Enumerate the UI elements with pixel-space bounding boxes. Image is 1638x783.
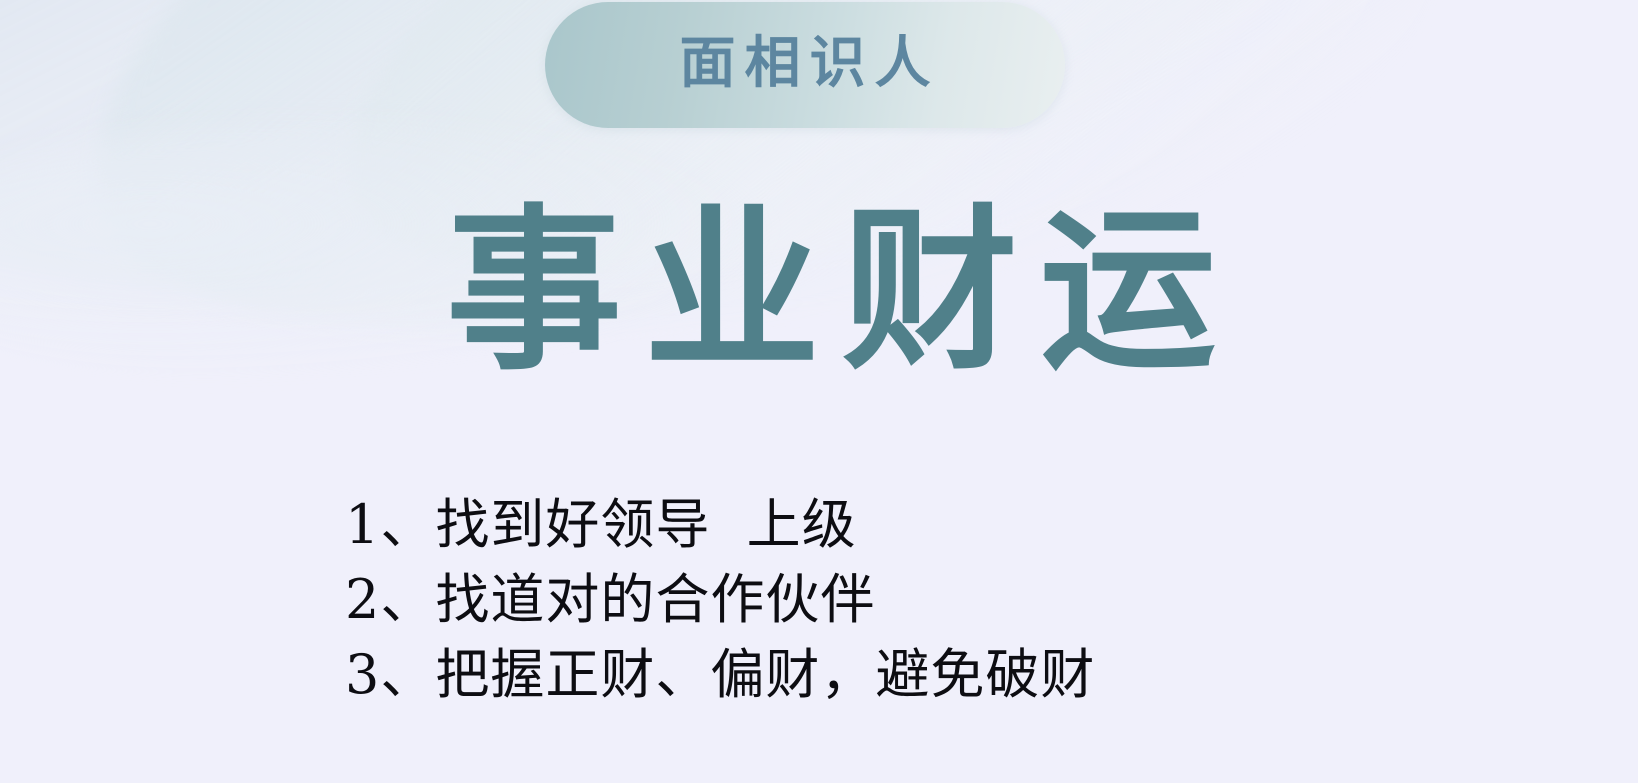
- topic-badge-pill: 面相识人: [545, 2, 1065, 128]
- slide-root: 面相识人 事业财运 1、找到好领导 上级 2、找道对的合作伙伴 3、把握正财、偏…: [0, 0, 1638, 783]
- list-item: 2、找道对的合作伙伴: [345, 562, 1545, 637]
- page-title-container: 事业财运: [0, 196, 1638, 386]
- list-item: 3、把握正财、偏财，避免破财: [345, 637, 1545, 712]
- topic-badge-label: 面相识人: [671, 35, 940, 91]
- list-item: 1、找到好领导 上级: [345, 487, 1545, 562]
- page-title: 事业财运: [424, 196, 1238, 386]
- bullet-list: 1、找到好领导 上级 2、找道对的合作伙伴 3、把握正财、偏财，避免破财: [345, 487, 1545, 712]
